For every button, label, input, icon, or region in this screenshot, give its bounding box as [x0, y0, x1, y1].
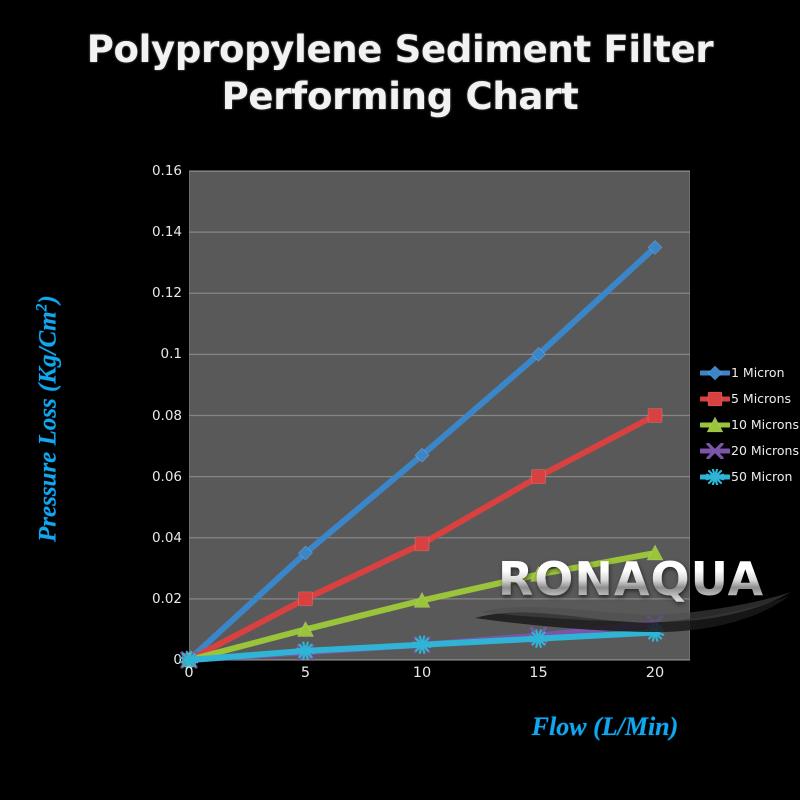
legend-item-50-micron[interactable]: 50 Micron [700, 464, 800, 490]
y-axis-tick-labels: 00.020.040.060.080.10.120.140.16 [118, 171, 182, 660]
x-marker [700, 443, 730, 459]
data-point-marker [708, 366, 722, 380]
data-point-marker [532, 470, 546, 484]
data-point-marker [299, 592, 313, 606]
legend-item-label: 10 Microns [731, 418, 799, 432]
x-tick-label: 5 [276, 664, 336, 682]
y-tick-label: 0.12 [122, 286, 182, 300]
y-axis-title-superscript: 2 [33, 304, 50, 312]
x-tick-label: 10 [392, 664, 452, 682]
series-plot [189, 171, 690, 660]
plot-area: RONAQUA [189, 171, 690, 660]
y-tick-label: 0.14 [122, 225, 182, 239]
diamond-marker [700, 365, 730, 381]
x-tick-label: 0 [159, 664, 219, 682]
y-axis-title: Pressure Loss (Kg/Cm2) [33, 249, 62, 589]
y-tick-label: 0.02 [122, 592, 182, 606]
legend-item-5-microns[interactable]: 5 Microns [700, 386, 800, 412]
y-tick-label: 0.04 [122, 531, 182, 545]
page-title: Polypropylene Sediment Filter Performing… [0, 26, 800, 120]
data-point-marker [708, 392, 722, 406]
legend-item-1-micron[interactable]: 1 Micron [700, 360, 800, 386]
triangle-marker [700, 417, 730, 433]
legend-item-20-microns[interactable]: 20 Microns [700, 438, 800, 464]
legend-item-label: 1 Micron [731, 366, 785, 380]
y-tick-label: 0.16 [122, 164, 182, 178]
y-tick-label: 0.06 [122, 470, 182, 484]
y-axis-title-closeparen: ) [35, 295, 62, 303]
square-marker [700, 391, 730, 407]
y-axis-title-text: Pressure Loss (Kg/Cm [35, 311, 62, 542]
chart-canvas: Polypropylene Sediment Filter Performing… [0, 0, 800, 800]
legend-item-10-microns[interactable]: 10 Microns [700, 412, 800, 438]
x-tick-label: 15 [509, 664, 569, 682]
x-tick-label: 20 [625, 664, 685, 682]
legend: 1 Micron5 Microns10 Microns20 Microns50 … [700, 360, 800, 490]
legend-item-label: 5 Microns [731, 392, 791, 406]
data-point-marker [415, 537, 429, 551]
legend-item-label: 50 Micron [731, 470, 792, 484]
data-point-marker [648, 409, 662, 423]
asterisk-marker [700, 469, 730, 485]
y-tick-label: 0.08 [122, 409, 182, 423]
y-tick-label: 0.1 [122, 347, 182, 361]
x-axis-title: Flow (L/Min) [455, 712, 755, 742]
legend-item-label: 20 Microns [731, 444, 799, 458]
x-axis-tick-labels: 05101520 [189, 664, 690, 688]
